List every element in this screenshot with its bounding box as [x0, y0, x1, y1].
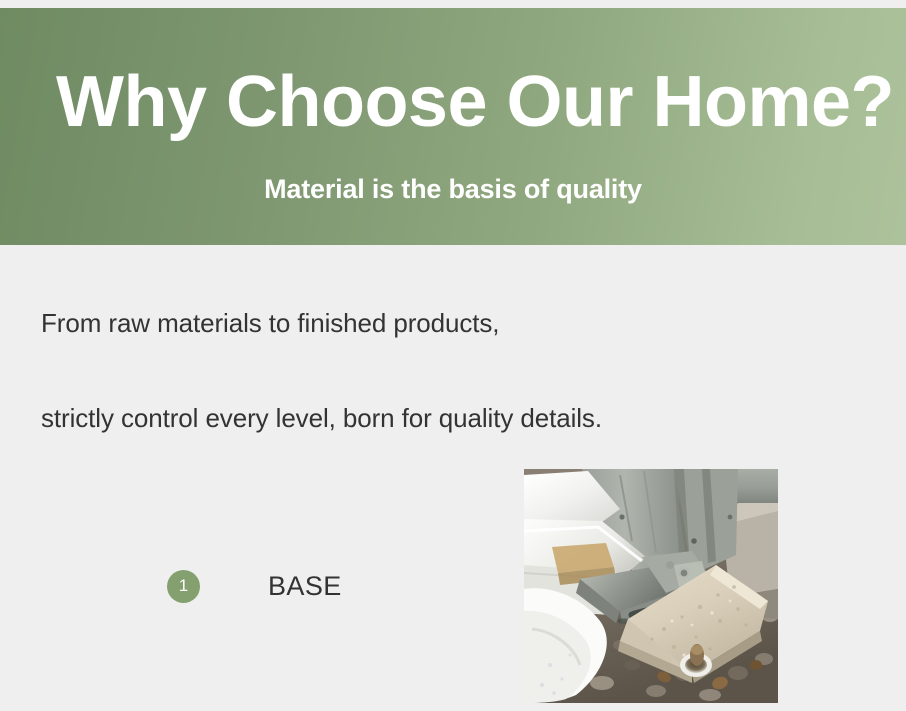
body-text-line-1: From raw materials to finished products, — [41, 308, 499, 339]
base-installation-photo-graphic — [524, 469, 778, 703]
page-title: Why Choose Our Home? — [56, 65, 894, 141]
slide-canvas: Why Choose Our Home? Material is the bas… — [0, 0, 906, 711]
page-subtitle: Material is the basis of quality — [0, 174, 906, 205]
step-item-base: 1 BASE — [167, 569, 342, 603]
step-label-base: BASE — [268, 571, 342, 602]
header-banner: Why Choose Our Home? Material is the bas… — [0, 8, 906, 245]
body-text-line-2: strictly control every level, born for q… — [41, 403, 602, 434]
base-installation-photo — [524, 469, 778, 703]
step-number-badge: 1 — [167, 570, 200, 603]
